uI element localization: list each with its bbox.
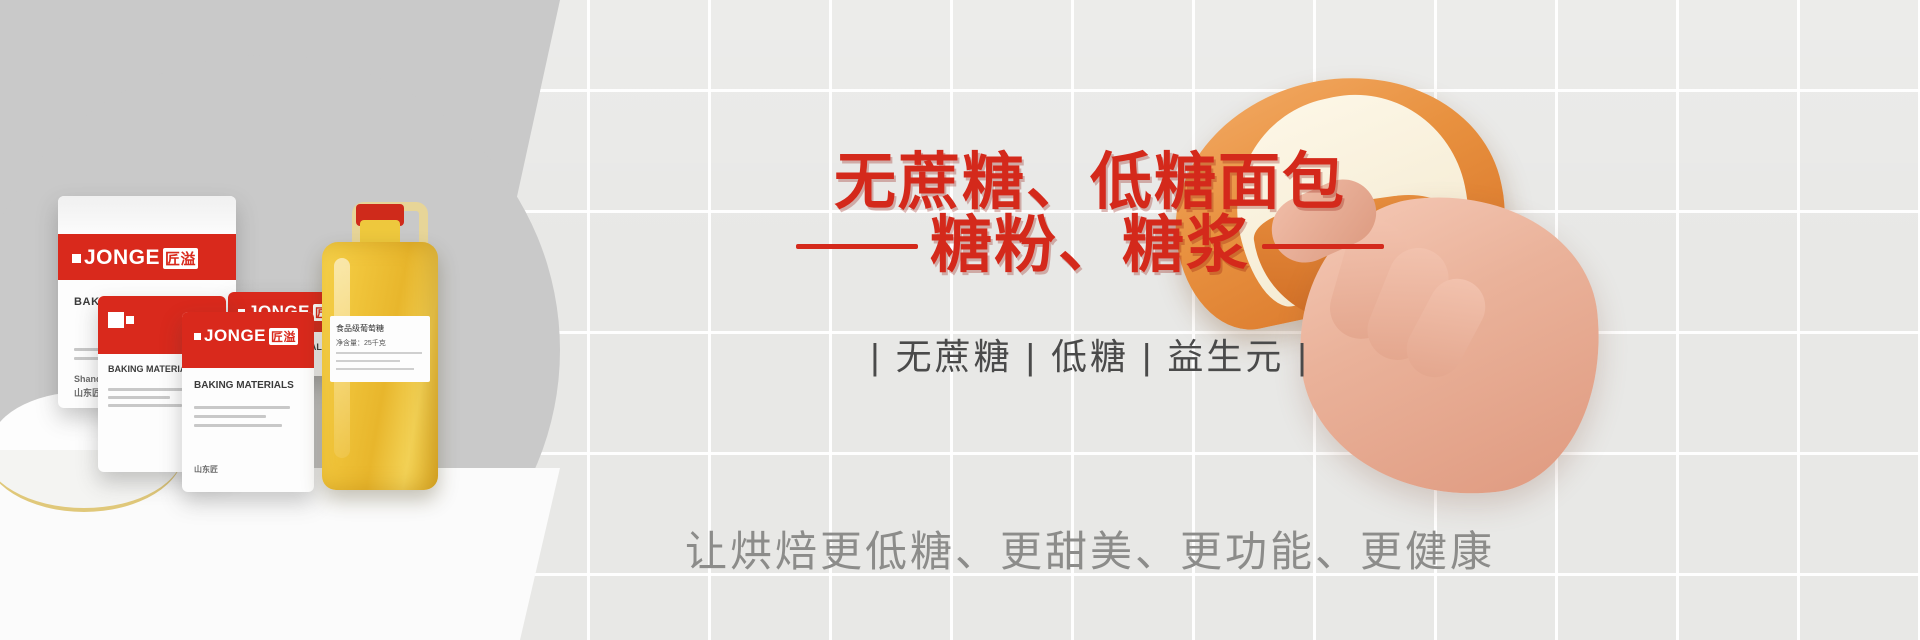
jug-label: 食品级葡萄糖 净含量：25千克 <box>330 316 430 382</box>
brand-mark-icon <box>126 316 134 324</box>
bag-spec-lines <box>108 388 192 407</box>
bag-top-fold <box>58 196 236 230</box>
feature-subline: | 无蔗糖 | 低糖 | 益生元 | <box>560 328 1620 380</box>
headline-line-2: 糖粉、糖浆 <box>560 212 1620 280</box>
bag-footer-cn: 山东匠 <box>194 464 218 475</box>
bag-footer-cn: 山东匠 <box>74 386 101 399</box>
brand-name: JONGE <box>204 326 266 346</box>
headline-line-2-text: 糖粉、糖浆 <box>930 212 1250 280</box>
bag-brand: JONGE 匠溢 <box>72 246 198 270</box>
bag-brand <box>108 312 134 328</box>
brand-name-cn: 匠溢 <box>269 328 298 345</box>
product-group: JONGE 匠溢 BAKING MATERIALS Shand 山东匠 JONG… <box>0 0 560 640</box>
brand-mark-icon <box>72 254 81 263</box>
oil-jug-icon: 食品级葡萄糖 净含量：25千克 <box>322 198 438 490</box>
bag-brand: JONGE 匠溢 <box>194 326 298 346</box>
brand-name: JONGE <box>84 246 160 270</box>
promo-banner: JONGE 匠溢 BAKING MATERIALS Shand 山东匠 JONG… <box>0 0 1920 640</box>
jug-label-net: 净含量：25千克 <box>336 338 386 348</box>
headline-line-1: 无蔗糖、低糖面包 <box>560 148 1620 217</box>
flour-bag-icon: JONGE 匠溢 BAKING MATERIALS 山东匠 <box>182 312 314 492</box>
jug-label-title: 食品级葡萄糖 <box>336 323 384 334</box>
brand-mark-icon <box>108 312 124 328</box>
brand-mark-icon <box>194 333 201 340</box>
jug-label-line <box>336 360 400 362</box>
bag-spec-lines <box>194 406 290 433</box>
copy-block: 无蔗糖、低糖面包 糖粉、糖浆 | 无蔗糖 | 低糖 | 益生元 | 让烘焙更低糖… <box>560 0 1620 640</box>
jug-label-line <box>336 352 422 354</box>
bag-baking-materials-label: BAKING MATERIALS <box>194 380 294 391</box>
rule-left <box>796 244 918 249</box>
jug-label-line <box>336 368 414 370</box>
rule-right <box>1262 244 1384 249</box>
brand-name-cn: 匠溢 <box>163 248 198 269</box>
tagline: 让烘焙更低糖、更甜美、更功能、更健康 <box>560 518 1620 579</box>
